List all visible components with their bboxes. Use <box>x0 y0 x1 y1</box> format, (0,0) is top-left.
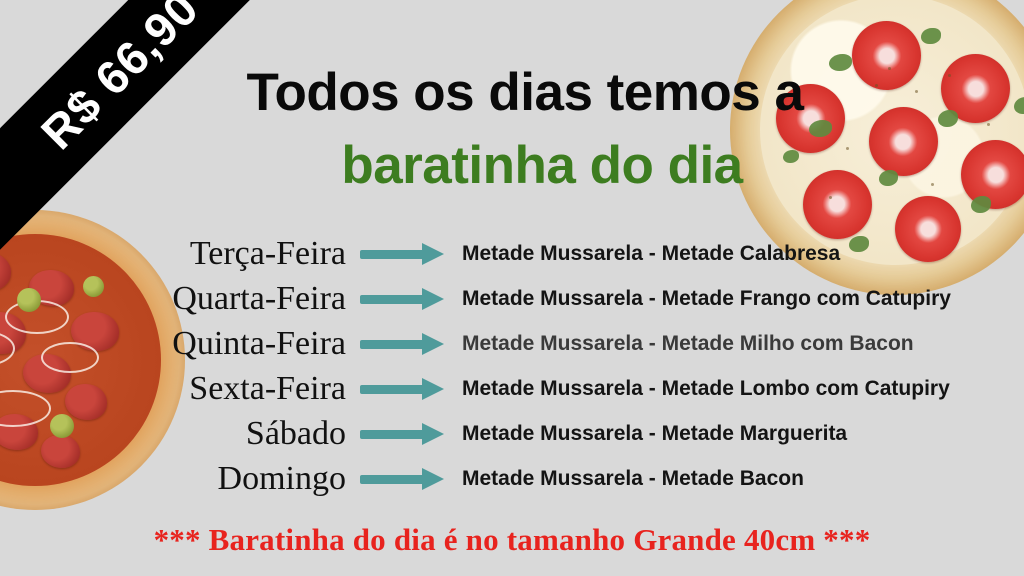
basil-leaf <box>938 110 958 127</box>
pizza-description: Metade Mussarela - Metade Calabresa <box>456 242 840 266</box>
basil-leaf <box>971 196 991 213</box>
basil-leaf <box>829 54 852 71</box>
size-note-text: *** Baratinha do dia é no tamanho Grande… <box>154 522 871 557</box>
tomato-slice <box>869 107 938 176</box>
schedule-row: Sexta-Feira Metade Mussarela - Metade Lo… <box>0 366 1024 411</box>
pizza-description: Metade Mussarela - Metade Lombo com Catu… <box>456 377 950 401</box>
footer-note: *** Baratinha do dia é no tamanho Grande… <box>0 522 1024 558</box>
day-label: Quarta-Feira <box>0 282 360 316</box>
tomato-slice <box>776 84 845 153</box>
promo-poster: R$ 66,90 Todos os dias temos a baratinha… <box>0 0 1024 576</box>
weekly-schedule: Terça-Feira Metade Mussarela - Metade Ca… <box>0 231 1024 501</box>
tomato-slice <box>803 170 872 239</box>
schedule-row: Quinta-Feira Metade Mussarela - Metade M… <box>0 321 1024 366</box>
arrow-right-icon <box>360 333 456 355</box>
day-label: Terça-Feira <box>0 237 360 271</box>
pizza-description: Metade Mussarela - Metade Milho com Baco… <box>456 332 914 356</box>
schedule-row: Terça-Feira Metade Mussarela - Metade Ca… <box>0 231 1024 276</box>
arrow-right-icon <box>360 243 456 265</box>
arrow-right-icon <box>360 468 456 490</box>
day-label: Sábado <box>0 417 360 451</box>
arrow-right-icon <box>360 378 456 400</box>
arrow-right-icon <box>360 423 456 445</box>
pizza-description: Metade Mussarela - Metade Bacon <box>456 467 804 491</box>
arrow-right-icon <box>360 288 456 310</box>
day-label: Sexta-Feira <box>0 372 360 406</box>
schedule-row: Sábado Metade Mussarela - Metade Marguer… <box>0 411 1024 456</box>
schedule-row: Domingo Metade Mussarela - Metade Bacon <box>0 456 1024 501</box>
pizza-description: Metade Mussarela - Metade Frango com Cat… <box>456 287 951 311</box>
schedule-row: Quarta-Feira Metade Mussarela - Metade F… <box>0 276 1024 321</box>
day-label: Quinta-Feira <box>0 327 360 361</box>
pizza-description: Metade Mussarela - Metade Marguerita <box>456 422 847 446</box>
day-label: Domingo <box>0 462 360 496</box>
price-label: R$ 66,90 <box>0 0 209 202</box>
tomato-slice <box>961 140 1024 209</box>
